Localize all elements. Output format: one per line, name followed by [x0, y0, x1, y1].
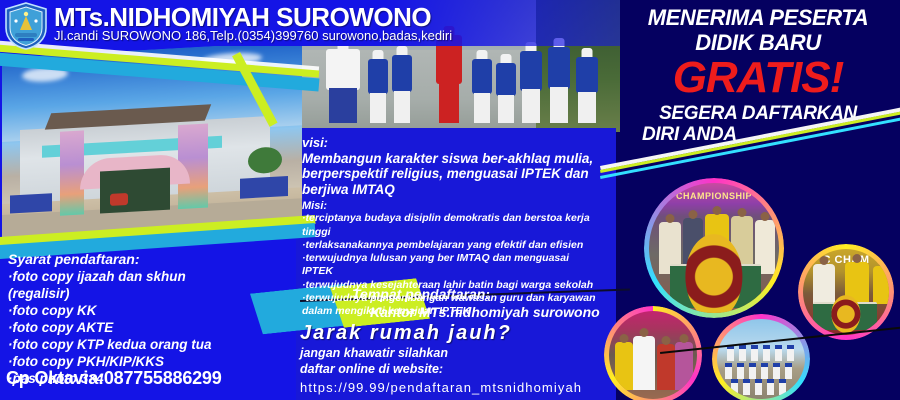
contact-phone[interactable]: Cp Oktavia:087755886299	[6, 368, 222, 389]
online-registration-block: Jarak rumah jauh? jangan khawatir silahk…	[300, 322, 582, 395]
list-item: ·foto copy KTP kedua orang tua	[8, 336, 278, 353]
vision-label: visi:	[302, 136, 602, 151]
registration-place-label: Tempat pendaftaran:	[352, 286, 600, 304]
photo-caption: CHAMPIONSHIP	[649, 191, 779, 201]
list-item: (regalisir)	[8, 285, 278, 302]
list-item: ·terwujudnya lulusan yang ber IMTAQ dan …	[302, 252, 602, 278]
online-headline: Jarak rumah jauh?	[300, 322, 582, 345]
registration-place-block: Tempat pendaftaran: Kantor MTs.nidhomiya…	[352, 286, 600, 321]
list-item: ·foto copy ijazah dan skhun	[8, 268, 278, 285]
promo-line-2: DIDIK BARU	[616, 31, 900, 54]
requirements-title: Syarat pendaftaran:	[8, 250, 278, 268]
promo-banner: MTs.NIDHOMIYAH SUROWONO Jl.candi SUROWON…	[0, 0, 900, 400]
vision-text: Membangun karakter siswa ber-akhlaq muli…	[302, 151, 602, 199]
medal-winners-photo: C CHAM	[798, 244, 894, 340]
championship-podium-photo: CHAMPIONSHIP	[644, 178, 784, 318]
online-sub-2: daftar online di website:	[300, 362, 582, 377]
requirements-block: Syarat pendaftaran: ·foto copy ijazah da…	[8, 250, 278, 387]
student-formation-photo	[712, 314, 810, 400]
online-sub-1: jangan khawatir silahkan	[300, 346, 582, 361]
promo-line-1: MENERIMA PESERTA	[616, 6, 900, 29]
list-item: ·terlaksanakannya pembelajaran yang efek…	[302, 239, 602, 252]
award-ceremony-photo	[604, 306, 702, 400]
school-address: Jl.candi SUROWONO 186,Telp.(0354)399760 …	[54, 28, 452, 43]
registration-place-value: Kantor MTs.nidhomiyah surowono	[352, 304, 600, 322]
list-item: ·foto copy KK	[8, 302, 278, 319]
registration-url[interactable]: https://99.99/pendaftaran_mtsnidhomiyah	[300, 380, 582, 395]
list-item: ·foto copy AKTE	[8, 319, 278, 336]
list-item: ·terciptanya budaya disiplin demokratis …	[302, 212, 602, 238]
promo-highlight-gratis: GRATIS!	[616, 56, 900, 100]
mission-label: Misi:	[302, 200, 602, 212]
school-shield-emblem-icon	[4, 2, 48, 50]
